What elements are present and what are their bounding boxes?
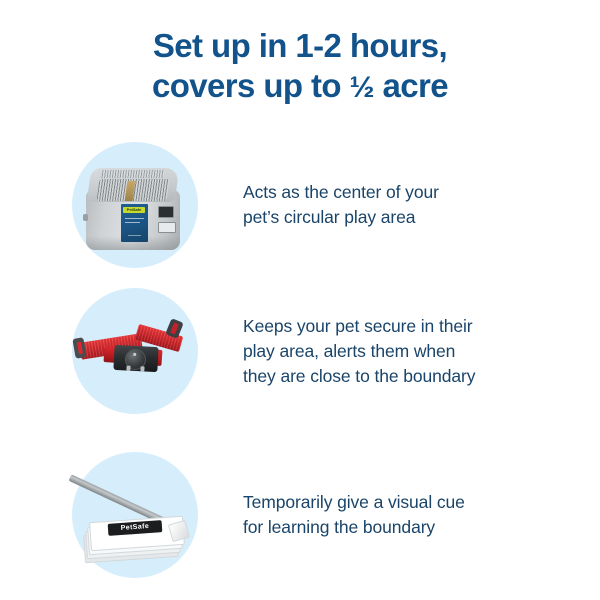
transmitter-vent-upper [101, 170, 164, 178]
headline-line-1: Set up in 1-2 hours, [0, 26, 600, 66]
feature-text-line: play area, alerts them when [243, 339, 570, 364]
headline-line-2: covers up to ½ acre [0, 66, 600, 108]
label-text-line [128, 235, 141, 236]
feature-text-line: they are close to the boundary [243, 364, 570, 389]
label-text-line [125, 222, 140, 223]
headline-line-2-before: covers up to [152, 67, 350, 104]
boundary-flags-icon: PetSafe [0, 450, 190, 580]
transmitter-indicator-panel [158, 222, 176, 233]
feature-media-transmitter: PetSafe [0, 140, 190, 270]
transmitter-power-port [158, 206, 174, 218]
label-text-line [125, 218, 144, 219]
collar-buckle-left [72, 337, 86, 359]
headline-line-2-after: acre [374, 67, 448, 104]
feature-row-collar: Keeps your pet secure in their play area… [0, 286, 600, 416]
flag-folded-corner [168, 520, 190, 542]
receiver-collar-icon [0, 286, 190, 416]
petsafe-logo-badge: PetSafe [123, 207, 145, 213]
collar-receiver-unit [113, 345, 158, 372]
transmitter-side-button [83, 214, 88, 221]
receiver-contact-prong [140, 366, 144, 371]
infographic-panel: Set up in 1-2 hours, covers up to ½ acre… [0, 0, 600, 600]
feature-row-flags: PetSafe Temporarily give a visual cue fo… [0, 450, 600, 580]
headline-fraction: ½ [350, 71, 374, 104]
page-title: Set up in 1-2 hours, covers up to ½ acre [0, 26, 600, 108]
transmitter-icon: PetSafe [0, 140, 190, 270]
feature-text-line: pet’s circular play area [243, 205, 570, 230]
feature-row-transmitter: PetSafe Acts as the center of your pet’s… [0, 140, 600, 270]
feature-media-flags: PetSafe [0, 450, 190, 580]
feature-text-line: Temporarily give a visual cue [243, 490, 570, 515]
feature-text-transmitter: Acts as the center of your pet’s circula… [190, 180, 600, 230]
transmitter-product-label: PetSafe [121, 204, 148, 242]
receiver-contact-prong [126, 366, 130, 371]
feature-text-line: for learning the boundary [243, 515, 570, 540]
flag-stack: PetSafe [84, 516, 188, 560]
feature-text-collar: Keeps your pet secure in their play area… [190, 314, 600, 389]
feature-text-line: Acts as the center of your [243, 180, 570, 205]
feature-text-flags: Temporarily give a visual cue for learni… [190, 490, 600, 540]
feature-media-collar [0, 286, 190, 416]
feature-text-line: Keeps your pet secure in their [243, 314, 570, 339]
